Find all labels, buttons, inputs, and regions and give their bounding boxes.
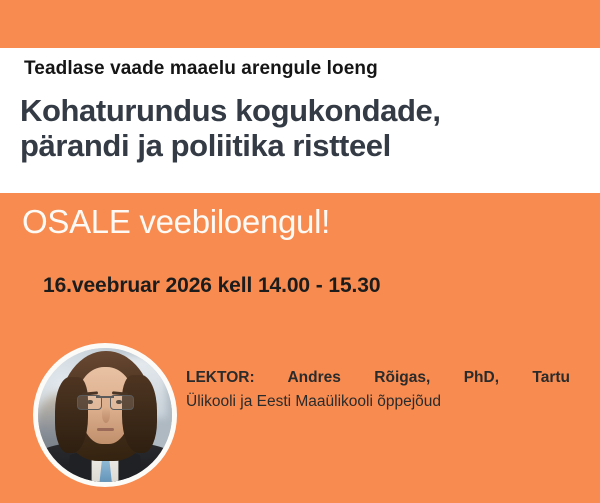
lecturer-credit-line-1: LEKTOR: Andres Rõigas, PhD, Tartu	[186, 366, 570, 390]
photo-hair-right	[122, 375, 157, 453]
photo-mouth	[97, 428, 114, 430]
lecturer-word: LEKTOR:	[186, 369, 255, 386]
event-datetime: 16.veebruar 2026 kell 14.00 - 15.30	[43, 274, 380, 298]
lecturer-word: Tartu	[532, 369, 570, 386]
poster-headline: Kohaturundus kogukondade, pärandi ja pol…	[20, 94, 580, 163]
lecturer-credit: LEKTOR: Andres Rõigas, PhD, Tartu Ülikoo…	[186, 366, 570, 414]
lecturer-credit-line-1-words: LEKTOR: Andres Rõigas, PhD, Tartu	[186, 366, 570, 390]
photo-glasses-bridge	[96, 396, 115, 397]
event-poster: Teadlase vaade maaelu arengule loeng Koh…	[0, 0, 600, 503]
photo-nose	[102, 407, 110, 423]
lecturer-word: Andres	[287, 369, 340, 386]
photo-hair-left	[55, 377, 87, 452]
lecturer-word: PhD,	[464, 369, 499, 386]
poster-kicker: Teadlase vaade maaelu arengule loeng	[24, 58, 378, 80]
headline-line-1: Kohaturundus kogukondade,	[20, 94, 580, 129]
call-to-action-text: OSALE veebiloengul!	[22, 203, 330, 241]
headline-line-2: pärandi ja poliitika ristteel	[20, 129, 580, 164]
lecturer-portrait	[33, 343, 177, 487]
lecturer-credit-line-2: Ülikooli ja Eesti Maaülikooli õppejõud	[186, 390, 570, 414]
lecturer-word: Rõigas,	[374, 369, 430, 386]
portrait-photo	[38, 348, 172, 482]
